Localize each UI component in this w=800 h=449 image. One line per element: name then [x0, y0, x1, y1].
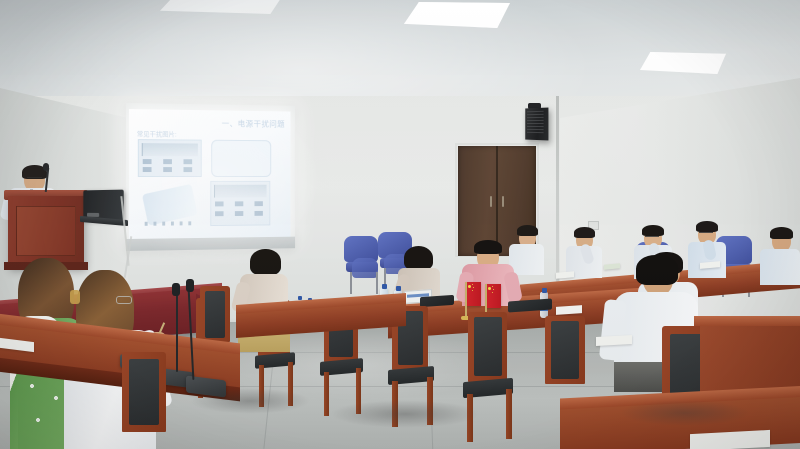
- wall-mounted-speaker: [525, 108, 548, 141]
- ceiling-led-panel-right: [640, 52, 726, 74]
- slide-subtitle: 常见干扰图片:: [137, 128, 177, 138]
- slide-image-device-bottom-left: [141, 183, 201, 229]
- device-photo: [142, 184, 198, 226]
- slide-image-spectrum-bottom-right: [210, 181, 270, 226]
- document-paper[interactable]: [690, 430, 770, 449]
- hair-clip: [70, 290, 80, 304]
- reading-row-4: [215, 211, 266, 216]
- reading-row-1: [143, 159, 197, 164]
- glasses: [699, 232, 713, 237]
- reading-row-3: [215, 201, 266, 206]
- presenter-glasses: [27, 177, 42, 182]
- podium-front-panel: [16, 206, 76, 256]
- spectrum-bars: [142, 143, 198, 156]
- projection-screen: 一、电源干扰问题 常见干扰图片:: [126, 103, 295, 251]
- door-handle-right[interactable]: [502, 196, 504, 207]
- podium-microphone: [43, 163, 49, 171]
- door-center-split: [496, 146, 498, 256]
- speaker-grill: [527, 111, 544, 135]
- projected-slide: 一、电源干扰问题 常见干扰图片:: [129, 109, 291, 239]
- slide-title: 一、电源干扰问题: [222, 118, 285, 129]
- foreground-right-desk-edge: [694, 316, 800, 326]
- glasses: [116, 296, 132, 304]
- door-handle-left[interactable]: [490, 196, 492, 207]
- document-paper[interactable]: [596, 335, 632, 346]
- conference-room-photo: 一、电源干扰问题 常见干扰图片:: [0, 0, 800, 449]
- reading-row-2: [143, 167, 197, 172]
- ceiling-led-panel-center: [404, 2, 510, 28]
- slide-image-spectrum-left: [138, 139, 202, 177]
- spectrum-bars-2: [214, 185, 266, 198]
- slide-image-blank-right: [211, 140, 271, 177]
- slide-bullet-dots: [145, 221, 192, 225]
- glasses: [645, 236, 659, 241]
- chair-shadow: [190, 388, 310, 414]
- chair-shadow: [620, 400, 750, 426]
- chair-shadow: [330, 400, 480, 428]
